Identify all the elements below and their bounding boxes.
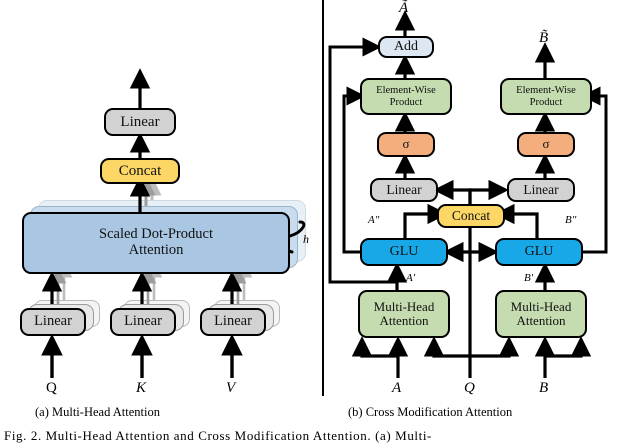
linear-output-box[interactable]: Linear xyxy=(104,108,176,136)
concat-label: Concat xyxy=(119,163,162,179)
figure-caption-text: Fig. 2. Multi-Head Attention and Cross M… xyxy=(4,428,432,443)
concat-box-b[interactable]: Concat xyxy=(437,204,505,228)
panel-a-caption-text: (a) Multi-Head Attention xyxy=(35,405,160,419)
sigma-left-label: σ xyxy=(402,137,409,151)
attention-label-line2: Attention xyxy=(129,243,184,259)
input-label-k: K xyxy=(136,380,146,397)
heads-count-label: h xyxy=(303,232,309,247)
scaled-dot-product-attention-box[interactable]: Scaled Dot-Product Attention xyxy=(22,212,290,274)
output-a-tilde-text: Ã xyxy=(399,0,408,16)
mha-right-line2: Attention xyxy=(516,314,565,328)
add-box[interactable]: Add xyxy=(378,36,434,58)
output-label-a-tilde: Ã xyxy=(399,0,408,17)
figure-caption: Fig. 2. Multi-Head Attention and Cross M… xyxy=(4,428,432,444)
concat-b-label: Concat xyxy=(452,209,490,224)
linear-v-box[interactable]: Linear xyxy=(200,308,266,336)
linear-left-label: Linear xyxy=(386,183,421,198)
add-label: Add xyxy=(394,39,418,54)
sigma-right-box[interactable]: σ xyxy=(517,132,575,157)
panel-b-caption-text: (b) Cross Modification Attention xyxy=(348,405,512,419)
input-label-q-b: Q xyxy=(464,380,475,397)
input-label-a: A xyxy=(392,380,401,397)
ewp-right-line1: Element-Wise xyxy=(516,85,576,96)
input-a-text: A xyxy=(392,380,401,396)
heads-count-text: h xyxy=(303,232,309,246)
input-label-v: V xyxy=(226,380,235,397)
ewp-right-line2: Product xyxy=(530,97,563,108)
edge-label-a-double-prime: A″ xyxy=(368,214,379,226)
input-q-b-text: Q xyxy=(464,380,475,396)
linear-q-label: Linear xyxy=(34,314,72,330)
elementwise-product-left-box[interactable]: Element-Wise Product xyxy=(360,78,452,115)
concat-box[interactable]: Concat xyxy=(100,158,180,184)
multi-head-attention-right-box[interactable]: Multi-Head Attention xyxy=(495,290,587,338)
mha-left-line1: Multi-Head xyxy=(374,300,435,314)
elementwise-product-right-box[interactable]: Element-Wise Product xyxy=(500,78,592,115)
ewp-left-line2: Product xyxy=(390,97,423,108)
linear-right-label: Linear xyxy=(523,183,558,198)
glu-right-label: GLU xyxy=(525,244,554,259)
linear-k-label: Linear xyxy=(124,314,162,330)
glu-left-box[interactable]: GLU xyxy=(360,238,448,266)
edge-label-b-double-prime: B″ xyxy=(565,214,576,226)
linear-left-box[interactable]: Linear xyxy=(370,178,438,202)
input-b-text: B xyxy=(539,380,548,396)
input-label-q: Q xyxy=(46,380,57,397)
linear-q-box[interactable]: Linear xyxy=(20,308,86,336)
glu-left-label: GLU xyxy=(390,244,419,259)
edge-label-a-prime: A′ xyxy=(406,272,415,284)
sigma-left-box[interactable]: σ xyxy=(377,132,435,157)
linear-k-box[interactable]: Linear xyxy=(110,308,176,336)
edge-label-b-prime: B′ xyxy=(524,272,533,284)
panel-divider xyxy=(322,0,324,396)
attention-label-line1: Scaled Dot-Product xyxy=(99,227,213,243)
mha-right-line1: Multi-Head xyxy=(511,300,572,314)
output-b-tilde-text: B̃ xyxy=(539,30,548,46)
glu-right-box[interactable]: GLU xyxy=(495,238,583,266)
input-v-text: V xyxy=(226,380,235,396)
a-prime-text: A′ xyxy=(406,272,415,284)
sigma-right-label: σ xyxy=(542,137,549,151)
linear-right-box[interactable]: Linear xyxy=(507,178,575,202)
linear-output-label: Linear xyxy=(120,114,159,130)
panel-a-caption: (a) Multi-Head Attention xyxy=(35,405,160,420)
a-double-prime-text: A″ xyxy=(368,214,379,226)
input-k-text: K xyxy=(136,380,146,396)
mha-left-line2: Attention xyxy=(379,314,428,328)
linear-v-label: Linear xyxy=(214,314,252,330)
ewp-left-line1: Element-Wise xyxy=(376,85,436,96)
multi-head-attention-left-box[interactable]: Multi-Head Attention xyxy=(358,290,450,338)
input-label-b: B xyxy=(539,380,548,397)
figure-2-container: Linear Concat Scaled Dot-Product Attenti… xyxy=(0,0,640,446)
input-q-text: Q xyxy=(46,380,57,396)
b-prime-text: B′ xyxy=(524,272,533,284)
b-double-prime-text: B″ xyxy=(565,214,576,226)
output-label-b-tilde: B̃ xyxy=(539,30,548,47)
panel-b-caption: (b) Cross Modification Attention xyxy=(348,405,512,420)
